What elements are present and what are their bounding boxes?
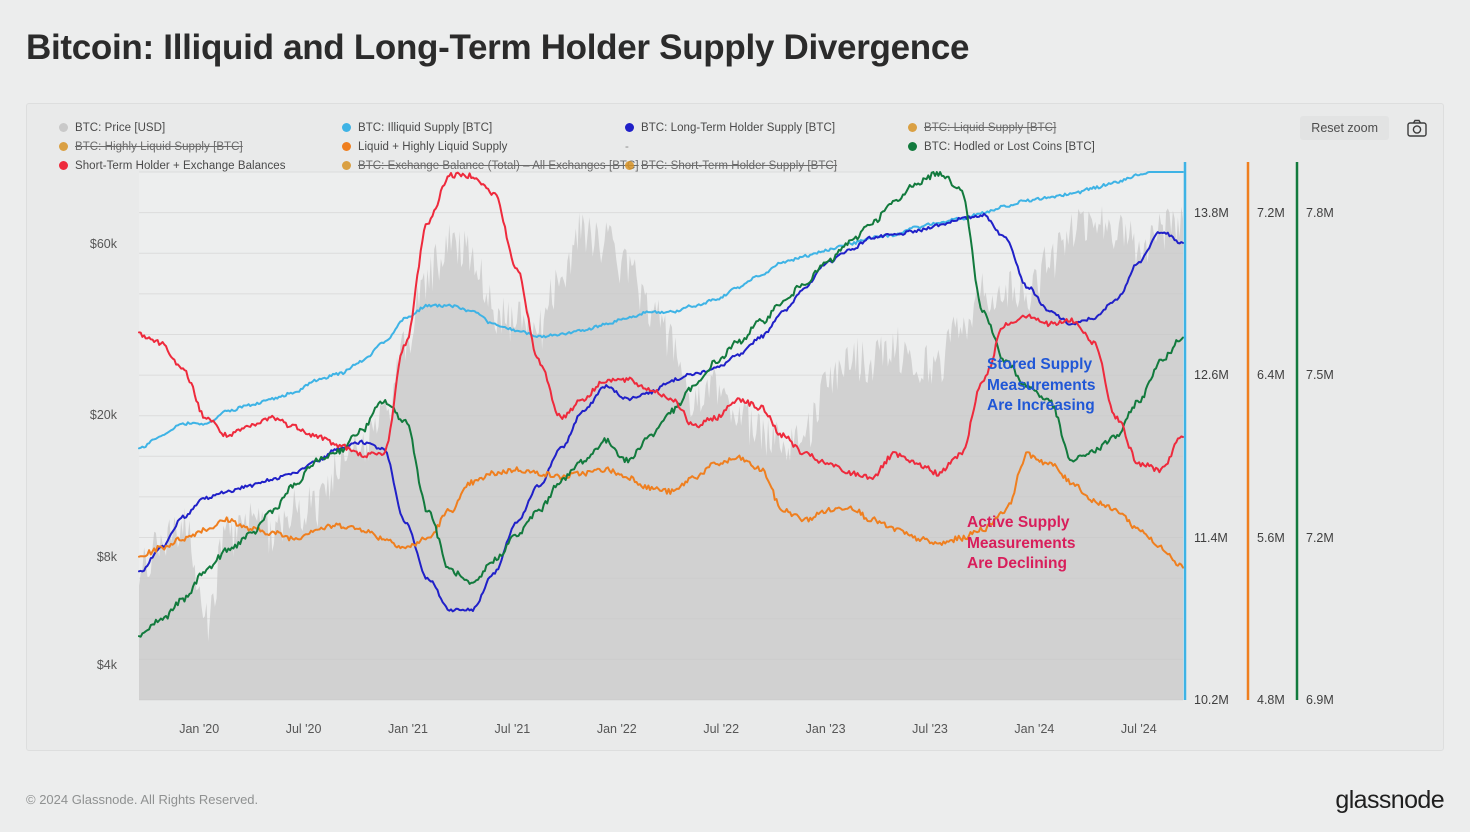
illiquid-supply-axis-tick: 13.8M bbox=[1194, 206, 1229, 220]
glassnode-logo: glassnode bbox=[1335, 786, 1444, 815]
legend-item-hodled-or-lost-coins[interactable]: BTC: Hodled or Lost Coins [BTC] bbox=[908, 137, 1095, 156]
legend-dot-icon bbox=[342, 142, 351, 151]
legend-dot-icon bbox=[625, 123, 634, 132]
price-axis-tick: $8k bbox=[27, 550, 117, 564]
liquid-supply-axis-tick: 4.8M bbox=[1257, 693, 1285, 707]
x-axis-tick: Jan '21 bbox=[388, 722, 428, 736]
legend-dot-icon bbox=[342, 123, 351, 132]
illiquid-supply-axis-tick: 12.6M bbox=[1194, 368, 1229, 382]
hodled-lost-axis-tick: 7.8M bbox=[1306, 206, 1334, 220]
camera-icon[interactable] bbox=[1407, 119, 1427, 137]
legend-dot-icon bbox=[908, 142, 917, 151]
legend-dot-icon bbox=[59, 142, 68, 151]
liquid-supply-axis-tick: 6.4M bbox=[1257, 368, 1285, 382]
chart-page: Bitcoin: Illiquid and Long-Term Holder S… bbox=[0, 0, 1470, 832]
liquid-supply-axis-tick: 7.2M bbox=[1257, 206, 1285, 220]
illiquid-supply-axis-tick: 10.2M bbox=[1194, 693, 1229, 707]
x-axis-tick: Jan '24 bbox=[1014, 722, 1054, 736]
legend-item-label: Liquid + Highly Liquid Supply bbox=[358, 141, 507, 153]
legend-dot-icon bbox=[59, 123, 68, 132]
x-axis-tick: Jul '24 bbox=[1121, 722, 1157, 736]
legend-item-placeholder[interactable]: - bbox=[625, 137, 629, 156]
legend-item-label: BTC: Illiquid Supply [BTC] bbox=[358, 122, 492, 134]
x-axis-tick: Jul '23 bbox=[912, 722, 948, 736]
legend-dot-icon bbox=[908, 123, 917, 132]
legend-item-long-term-holder-supply[interactable]: BTC: Long-Term Holder Supply [BTC] bbox=[625, 118, 835, 137]
legend-item-label: BTC: Hodled or Lost Coins [BTC] bbox=[924, 141, 1095, 153]
chart-toolbar: Reset zoom bbox=[1300, 116, 1427, 140]
hodled-lost-axis-tick: 7.2M bbox=[1306, 531, 1334, 545]
chart-canvas[interactable] bbox=[27, 162, 1445, 752]
legend-item-liquid-supply[interactable]: BTC: Liquid Supply [BTC] bbox=[908, 118, 1056, 137]
price-axis-tick: $4k bbox=[27, 658, 117, 672]
hodled-lost-axis-tick: 7.5M bbox=[1306, 368, 1334, 382]
reset-zoom-button[interactable]: Reset zoom bbox=[1300, 116, 1389, 140]
x-axis-tick: Jul '22 bbox=[703, 722, 739, 736]
legend-item-label: BTC: Liquid Supply [BTC] bbox=[924, 122, 1056, 134]
legend-row: BTC: Price [USD] BTC: Illiquid Supply [B… bbox=[37, 118, 1287, 137]
legend-item-label: - bbox=[625, 141, 629, 153]
x-axis-tick: Jul '21 bbox=[495, 722, 531, 736]
footer-copyright: © 2024 Glassnode. All Rights Reserved. bbox=[26, 792, 258, 807]
legend-item-label: BTC: Long-Term Holder Supply [BTC] bbox=[641, 122, 835, 134]
legend-row: BTC: Highly Liquid Supply [BTC] Liquid +… bbox=[37, 137, 1287, 156]
chart-card: BTC: Price [USD] BTC: Illiquid Supply [B… bbox=[26, 103, 1444, 751]
price-axis-tick: $20k bbox=[27, 408, 117, 422]
x-axis-tick: Jan '20 bbox=[179, 722, 219, 736]
legend-item-label: BTC: Highly Liquid Supply [BTC] bbox=[75, 141, 243, 153]
plot-area[interactable]: glassnode Stored Supply Measurements Are… bbox=[27, 162, 1445, 752]
illiquid-supply-axis-tick: 11.4M bbox=[1194, 531, 1228, 545]
x-axis-tick: Jan '22 bbox=[597, 722, 637, 736]
chart-legend: BTC: Price [USD] BTC: Illiquid Supply [B… bbox=[37, 110, 1287, 168]
x-axis-tick: Jul '20 bbox=[286, 722, 322, 736]
x-axis-tick: Jan '23 bbox=[806, 722, 846, 736]
liquid-supply-axis-tick: 5.6M bbox=[1257, 531, 1285, 545]
legend-item-liquid-plus-highly-liquid[interactable]: Liquid + Highly Liquid Supply bbox=[342, 137, 507, 156]
legend-item-illiquid-supply[interactable]: BTC: Illiquid Supply [BTC] bbox=[342, 118, 492, 137]
price-axis-tick: $60k bbox=[27, 237, 117, 251]
hodled-lost-axis-tick: 6.9M bbox=[1306, 693, 1334, 707]
legend-item-highly-liquid-supply[interactable]: BTC: Highly Liquid Supply [BTC] bbox=[59, 137, 243, 156]
page-title: Bitcoin: Illiquid and Long-Term Holder S… bbox=[26, 28, 969, 68]
legend-item-price[interactable]: BTC: Price [USD] bbox=[59, 118, 165, 137]
legend-item-label: BTC: Price [USD] bbox=[75, 122, 165, 134]
